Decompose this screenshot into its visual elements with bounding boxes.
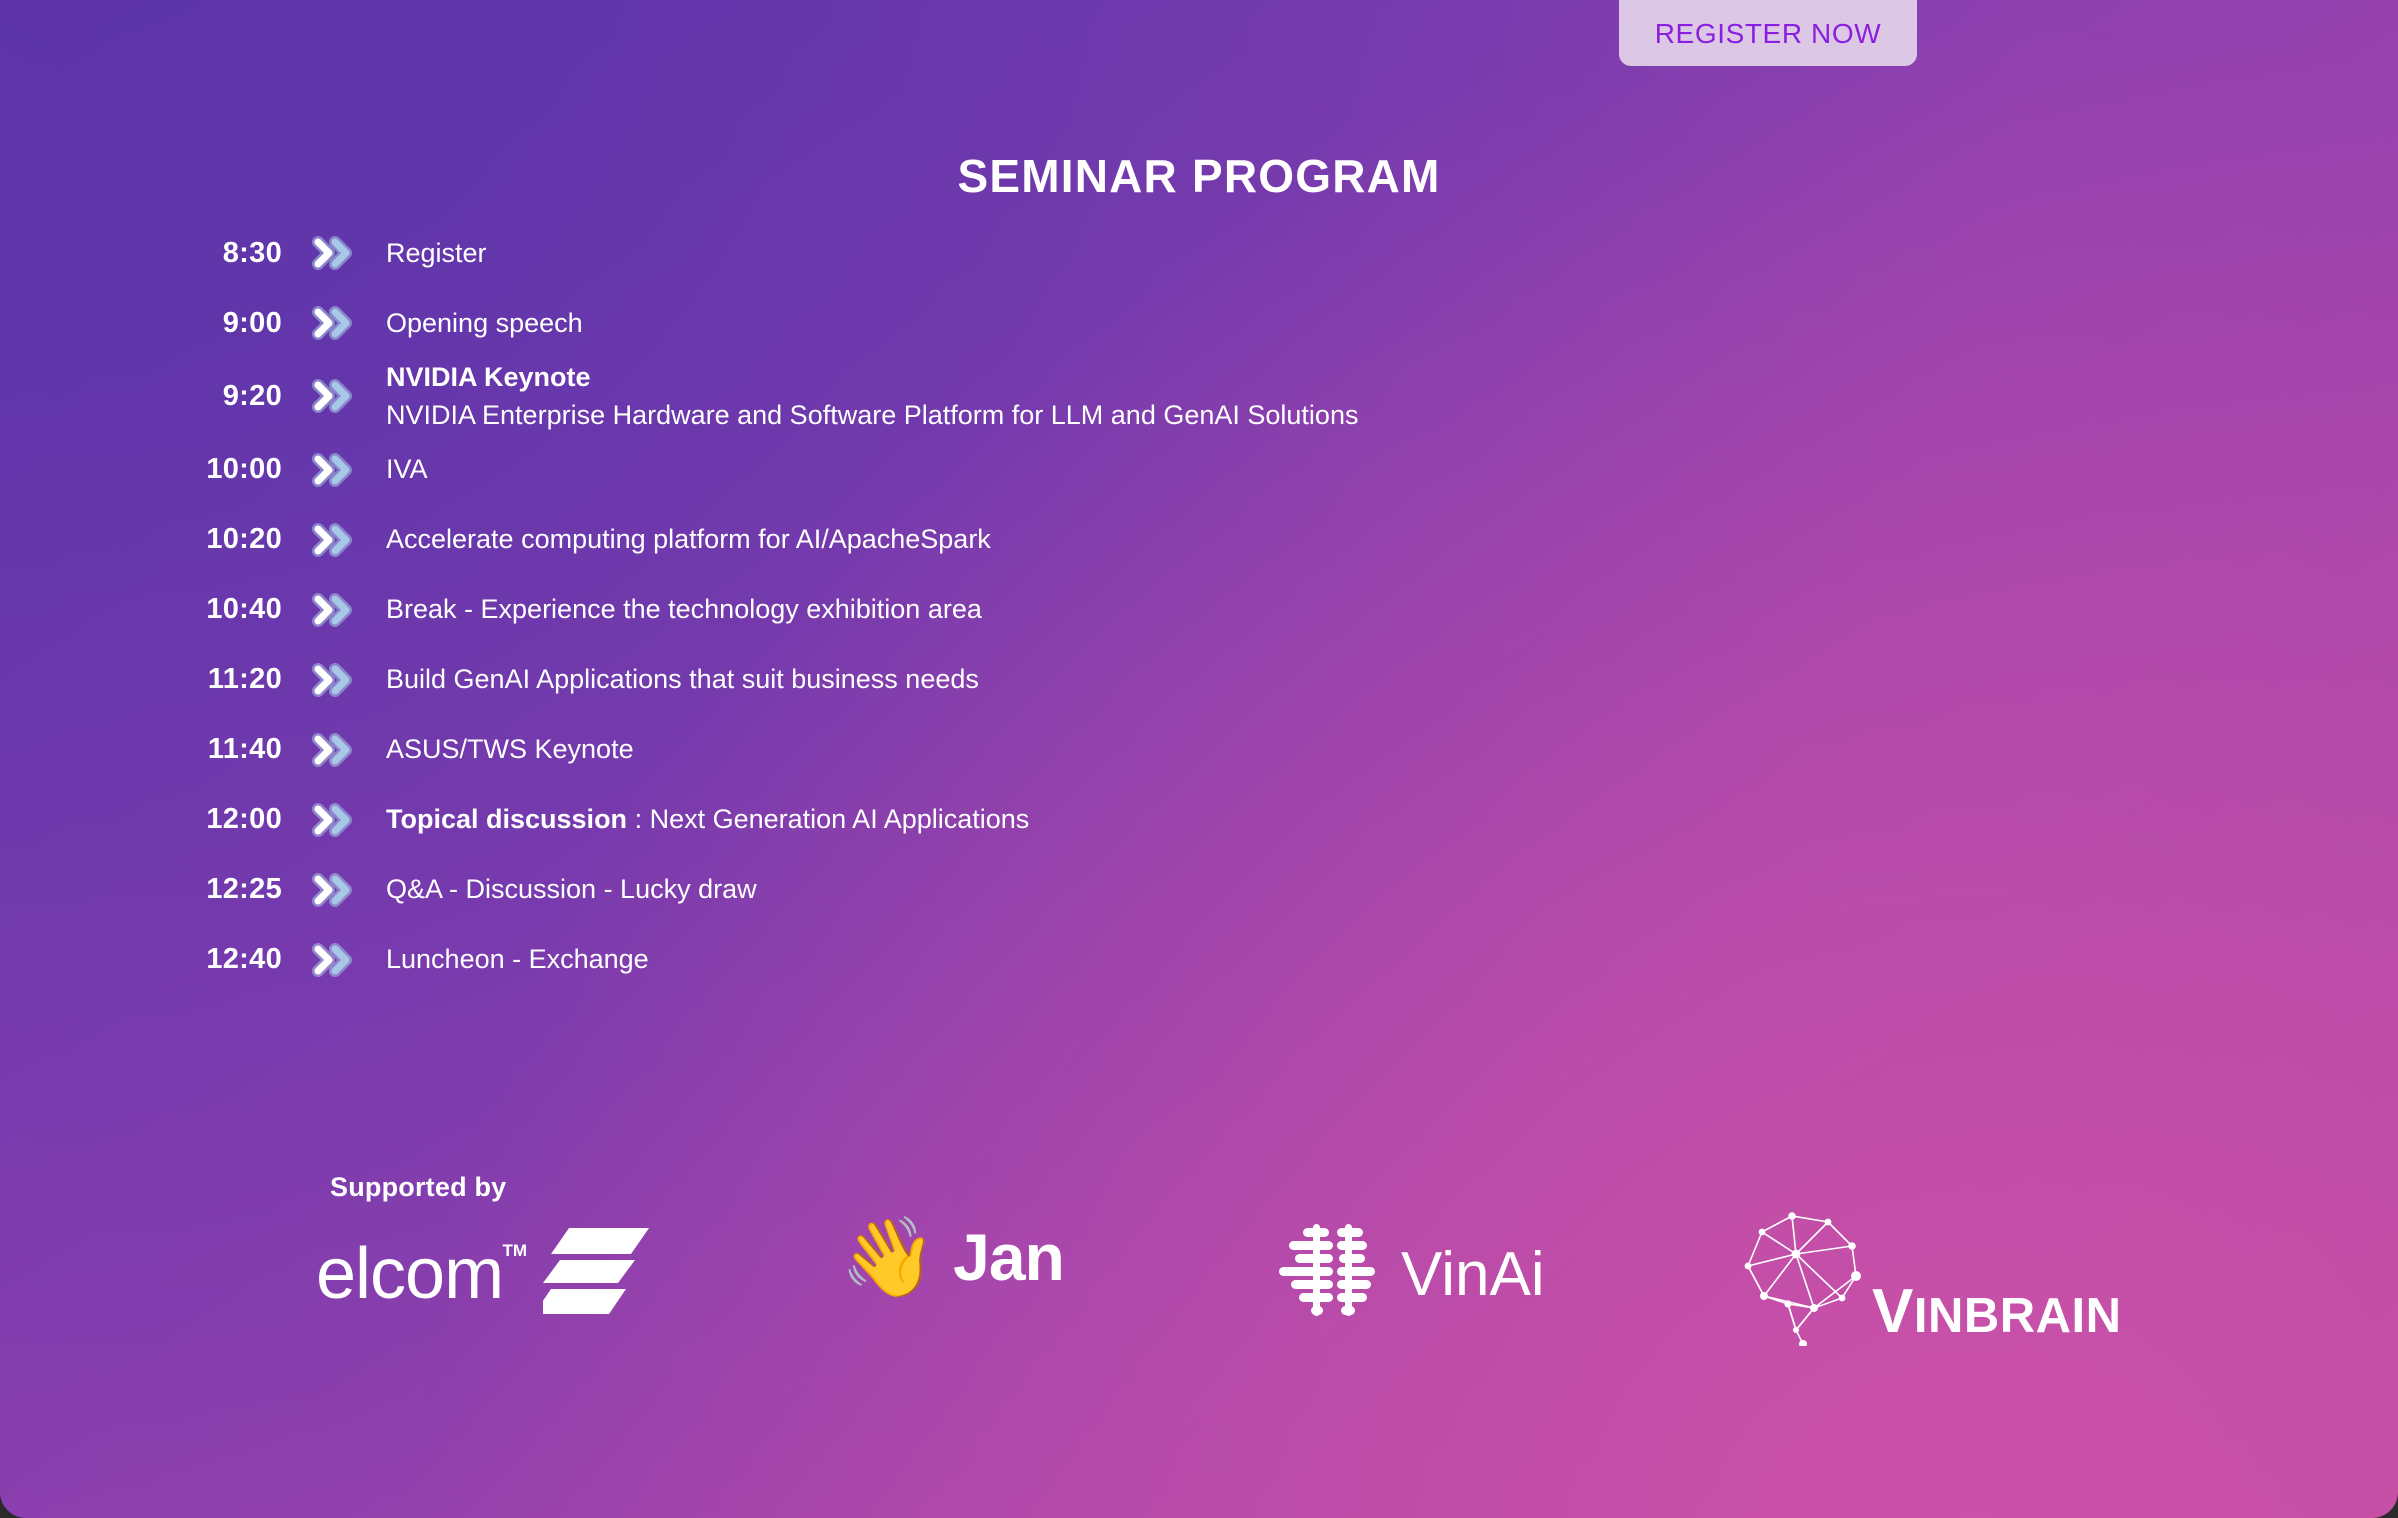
schedule-row-title: Build GenAI Applications that suit busin…	[386, 664, 979, 694]
schedule-row-text: IVA	[366, 450, 428, 488]
schedule-row-title-bold: Topical discussion	[386, 804, 627, 834]
double-chevron-right-icon	[300, 453, 366, 487]
register-now-button[interactable]: REGISTER NOW	[1619, 0, 1917, 66]
schedule-row-time: 10:00	[0, 453, 300, 486]
vinbrain-wordmark-rest: INBRAIN	[1914, 1289, 2122, 1343]
schedule-row-title: ASUS/TWS Keynote	[386, 734, 634, 764]
schedule-row-title: : Next Generation AI Applications	[627, 804, 1029, 834]
double-chevron-right-icon	[300, 236, 366, 270]
schedule-row-time: 12:00	[0, 803, 300, 836]
schedule-row-title: Accelerate computing platform for AI/Apa…	[386, 524, 991, 554]
schedule-row: 8:30Register	[0, 218, 2398, 288]
jan-wordmark: Jan	[953, 1224, 1064, 1290]
double-chevron-right-icon	[300, 733, 366, 767]
schedule-row: 10:20Accelerate computing platform for A…	[0, 505, 2398, 575]
schedule-row-text: Break - Experience the technology exhibi…	[366, 590, 982, 628]
schedule-row-text: Register	[366, 234, 487, 272]
sponsor-logo-vinbrain[interactable]: VINBRAIN	[1730, 1204, 2122, 1351]
schedule-row-title: IVA	[386, 454, 428, 484]
schedule-row-title-bold: NVIDIA Keynote	[386, 362, 591, 392]
schedule-row-text: Accelerate computing platform for AI/Apa…	[366, 520, 991, 558]
elcom-trademark: TM	[503, 1242, 528, 1259]
elcom-wordmark-text: elcom	[316, 1234, 503, 1314]
schedule-row: 12:40Luncheon - Exchange	[0, 925, 2398, 995]
schedule-row: 9:00Opening speech	[0, 288, 2398, 358]
sponsor-logo-jan[interactable]: 👋 Jan	[840, 1218, 1064, 1296]
seminar-program-page: REGISTER NOW SEMINAR PROGRAM 8:30Registe…	[0, 0, 2398, 1518]
schedule-row-text: Topical discussion : Next Generation AI …	[366, 800, 1029, 838]
schedule-row: 11:40ASUS/TWS Keynote	[0, 715, 2398, 785]
double-chevron-right-icon	[300, 663, 366, 697]
schedule-row: 11:20Build GenAI Applications that suit …	[0, 645, 2398, 715]
schedule-row-title: Break - Experience the technology exhibi…	[386, 594, 982, 624]
double-chevron-right-icon	[300, 379, 366, 413]
schedule-row: 12:00Topical discussion : Next Generatio…	[0, 785, 2398, 855]
supported-by-label: Supported by	[330, 1172, 506, 1203]
waving-hand-icon: 👋	[840, 1218, 937, 1296]
elcom-e-mark-icon	[543, 1228, 649, 1319]
schedule-row: 12:25Q&A - Discussion - Lucky draw	[0, 855, 2398, 925]
brain-network-icon	[1730, 1204, 1880, 1351]
double-chevron-right-icon	[300, 943, 366, 977]
schedule-row-time: 12:40	[0, 943, 300, 976]
schedule-row-title: Register	[386, 238, 487, 268]
double-chevron-right-icon	[300, 306, 366, 340]
schedule-row: 10:00IVA	[0, 435, 2398, 505]
schedule-row-title: Q&A - Discussion - Lucky draw	[386, 874, 757, 904]
double-chevron-right-icon	[300, 523, 366, 557]
vinbrain-wordmark-cap: V	[1872, 1277, 1914, 1346]
vinai-wordmark: VinAi	[1401, 1244, 1545, 1306]
schedule-row-title: Opening speech	[386, 308, 583, 338]
schedule-row-text: Luncheon - Exchange	[366, 940, 649, 978]
schedule-row-time: 11:40	[0, 733, 300, 766]
sponsor-logo-elcom[interactable]: elcom TM	[316, 1228, 649, 1319]
double-chevron-right-icon	[300, 803, 366, 837]
schedule-row-subtitle: NVIDIA Enterprise Hardware and Software …	[386, 396, 1358, 434]
vinbrain-wordmark: VINBRAIN	[1872, 1281, 2122, 1343]
schedule-row-title: Luncheon - Exchange	[386, 944, 649, 974]
schedule-row-time: 10:20	[0, 523, 300, 556]
page-title: SEMINAR PROGRAM	[0, 149, 2398, 203]
schedule-row-text: Build GenAI Applications that suit busin…	[366, 660, 979, 698]
schedule-row-time: 9:20	[0, 380, 300, 413]
sponsor-logos: elcom TM 👋 Jan	[310, 1210, 2100, 1350]
schedule-row-time: 8:30	[0, 237, 300, 270]
schedule-row-text: NVIDIA KeynoteNVIDIA Enterprise Hardware…	[366, 358, 1358, 435]
schedule-list: 8:30Register9:00Opening speech9:20NVIDIA…	[0, 218, 2398, 995]
schedule-row-time: 9:00	[0, 307, 300, 340]
schedule-row-time: 10:40	[0, 593, 300, 626]
schedule-row-text: Opening speech	[366, 304, 583, 342]
schedule-row: 10:40Break - Experience the technology e…	[0, 575, 2398, 645]
elcom-wordmark: elcom TM	[316, 1238, 503, 1310]
double-chevron-right-icon	[300, 873, 366, 907]
schedule-row: 9:20NVIDIA KeynoteNVIDIA Enterprise Hard…	[0, 358, 2398, 435]
vinai-circuit-mark-icon	[1275, 1224, 1379, 1325]
schedule-row-time: 11:20	[0, 663, 300, 696]
schedule-row-text: Q&A - Discussion - Lucky draw	[366, 870, 757, 908]
schedule-row-time: 12:25	[0, 873, 300, 906]
double-chevron-right-icon	[300, 593, 366, 627]
sponsor-logo-vinai[interactable]: VinAi	[1275, 1224, 1545, 1325]
schedule-row-text: ASUS/TWS Keynote	[366, 730, 634, 768]
